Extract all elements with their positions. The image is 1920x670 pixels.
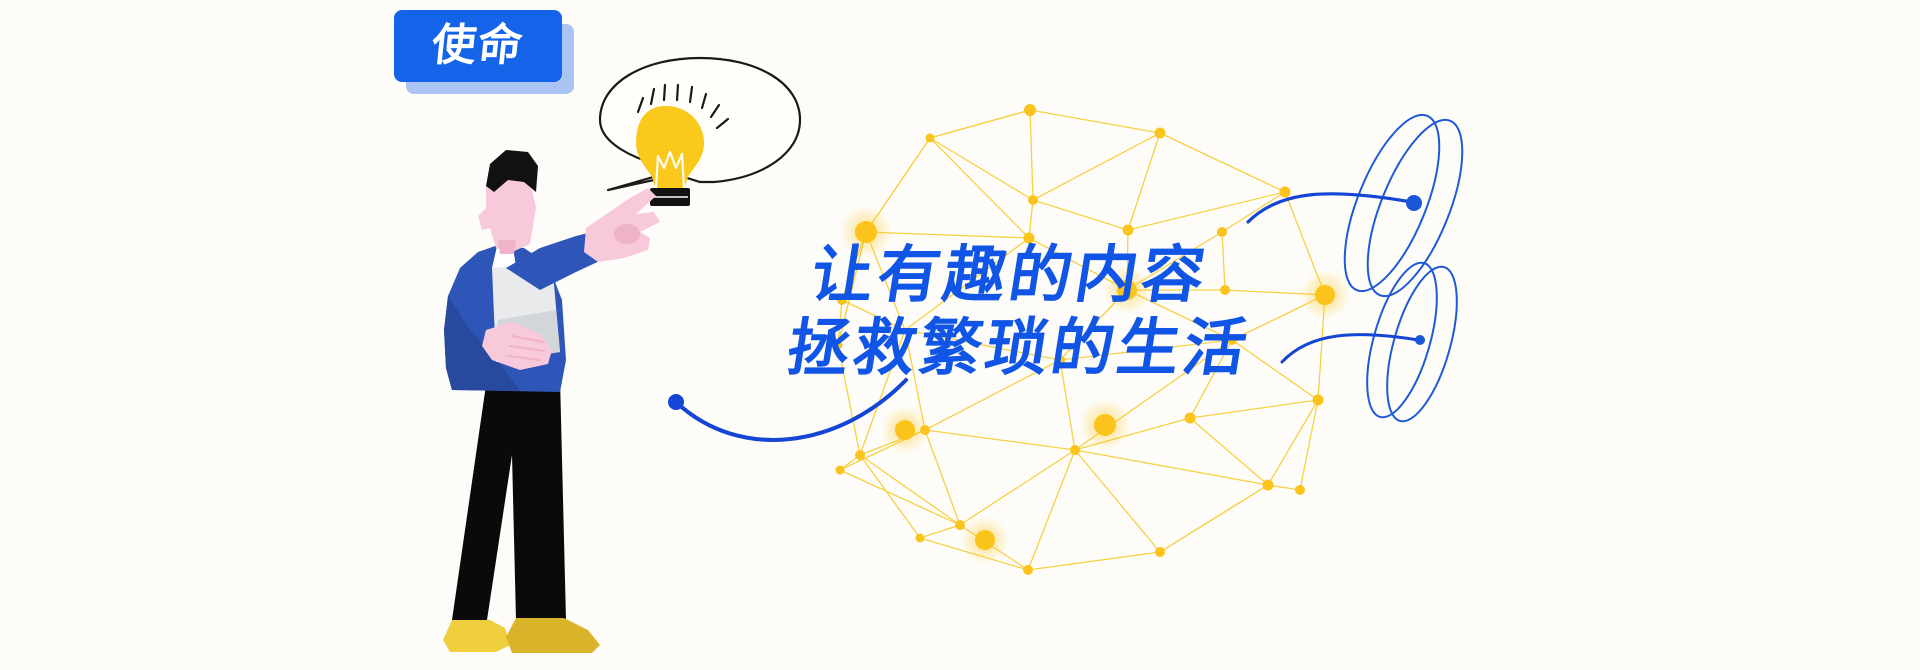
blue-swoosh bbox=[676, 380, 906, 440]
orbit-ring bbox=[1325, 103, 1458, 303]
orbit-decorations bbox=[0, 0, 1920, 670]
mission-banner: 使命 bbox=[0, 0, 1920, 670]
orbit-tail-bottom bbox=[1282, 335, 1418, 362]
orbit-ring bbox=[1353, 255, 1451, 424]
orbit-ring-group-top bbox=[1325, 103, 1481, 308]
orbit-dot-top bbox=[1406, 195, 1422, 211]
orbit-ring-group-bottom bbox=[1353, 255, 1471, 428]
orbit-tail-top bbox=[1248, 194, 1412, 222]
orbit-dot-bottom bbox=[1415, 335, 1425, 345]
swoosh-dot bbox=[668, 394, 684, 410]
